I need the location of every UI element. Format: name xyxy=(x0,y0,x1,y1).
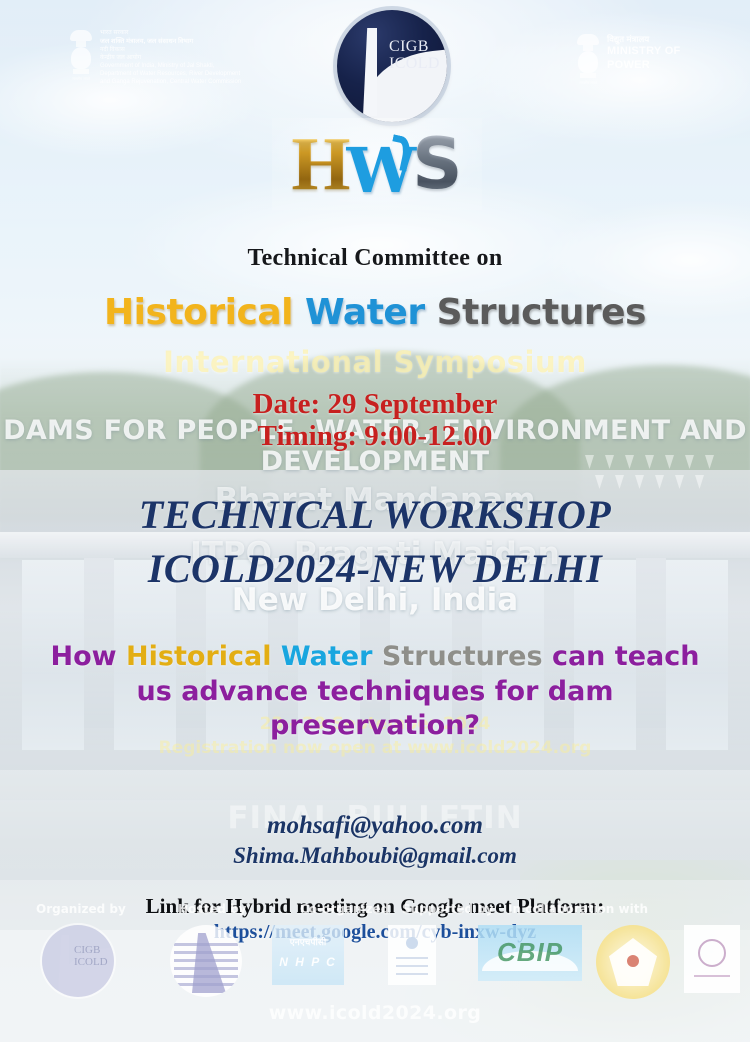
title-word-water: Water xyxy=(305,292,425,333)
question-part-structures: Structures xyxy=(372,641,542,672)
nhpc-logo: एनएचपीसी N H P C xyxy=(272,925,344,985)
title-word-structures: Structures xyxy=(437,292,646,333)
cbip-logo: CBIP xyxy=(478,925,582,981)
emblem-left-line: नदी विकास xyxy=(100,47,241,54)
contact-email-1[interactable]: mohsafi@yahoo.com xyxy=(0,812,750,840)
emblem-left-line: and Ganga Rejuvenation, Central Water Co… xyxy=(100,79,241,86)
nhpc-english-text: N H P C xyxy=(278,955,338,969)
contact-email-2[interactable]: Shima.Mahboubi@gmail.com xyxy=(0,843,750,869)
workshop-title-line-1: TECHNICAL WORKSHOP xyxy=(0,491,750,538)
icold-logo-line-1: CIGB xyxy=(389,38,445,55)
hws-letter-h: H xyxy=(291,126,350,202)
page-title: Historical Water Structures xyxy=(0,294,750,333)
event-timing: Timing: 9:00-12.00 xyxy=(0,420,750,453)
ashoka-emblem-icon: सत्यमेव जयते xyxy=(68,28,94,86)
workshop-question: How Historical Water Structures can teac… xyxy=(0,640,750,744)
square-partner-logo xyxy=(684,925,740,993)
emblem-motto: सत्यमेव जयते xyxy=(575,80,601,86)
cigb-icold-footer-logo: CIGB ICOLD xyxy=(42,925,114,997)
title-word-historical: Historical xyxy=(104,292,293,333)
label-co-organized: Co-organized xyxy=(300,902,389,916)
dam-tower-icon xyxy=(363,28,377,116)
emblem-left-line: जल शक्ति मंत्रालय, जल संसाधन विभाग xyxy=(100,38,241,46)
event-date: Date: 29 September xyxy=(0,388,750,421)
poster-canvas: International Symposium DAMS FOR PEOPLE,… xyxy=(0,0,750,1042)
label-organized-by: Organized by xyxy=(36,902,126,916)
ministry-line-1: MINISTRY OF xyxy=(607,45,681,58)
question-part-historical: Historical xyxy=(126,641,271,672)
ashoka-emblem-icon: सत्यमेव जयते xyxy=(575,32,601,90)
emblem-left-line: केन्द्रीय जल आयोग xyxy=(100,55,241,62)
label-in-collaboration: In collaboration with xyxy=(508,902,648,916)
emblem-motto: सत्यमेव जयते xyxy=(68,76,94,82)
incold-logo xyxy=(170,925,242,997)
ministry-hindi-label: विद्युत मंत्रालय xyxy=(607,34,681,44)
cbip-logo-text: CBIP xyxy=(478,937,582,968)
committee-prefix: Technical Committee on xyxy=(0,245,750,272)
emblem-left-line: Department of Water Resources, River Dev… xyxy=(100,71,241,78)
partner-logo xyxy=(388,925,436,985)
icold-logo-line-2: ICOLD xyxy=(389,55,445,72)
question-part-water: Water xyxy=(271,641,372,672)
nhpc-hindi-text: एनएचपीसी xyxy=(278,935,338,948)
chevron-decoration-icon xyxy=(585,455,725,495)
emblem-left-line: Government of India, Ministry of Jal Sha… xyxy=(100,63,241,70)
ministry-of-power-emblem-right: सत्यमेव जयते विद्युत मंत्रालय MINISTRY O… xyxy=(575,32,740,102)
government-of-india-emblem-left: सत्यमेव जयते भारत सरकार जल शक्ति मंत्राल… xyxy=(68,28,278,100)
sponsor-logos-row: CIGB ICOLD एनएचपीसी N H P C CBIP xyxy=(0,925,750,1003)
hws-letter-s: S xyxy=(412,129,462,199)
cigb-icold-logo: CIGB ICOLD xyxy=(337,10,447,122)
emblem-left-line: भारत सरकार xyxy=(100,30,241,37)
ministry-line-2: POWER xyxy=(607,59,681,72)
label-supported-by: Supported by xyxy=(402,902,494,916)
label-hosted-by: Hosted by xyxy=(178,902,246,916)
workshop-title-line-2: ICOLD2024-NEW DELHI xyxy=(0,545,750,592)
sponsor-labels-row: Organized by Hosted by Co-organized Supp… xyxy=(0,902,750,920)
question-part-how: How xyxy=(51,641,127,672)
pentagon-partner-logo xyxy=(596,925,670,999)
hws-wordmark-logo: H W S xyxy=(272,118,482,210)
